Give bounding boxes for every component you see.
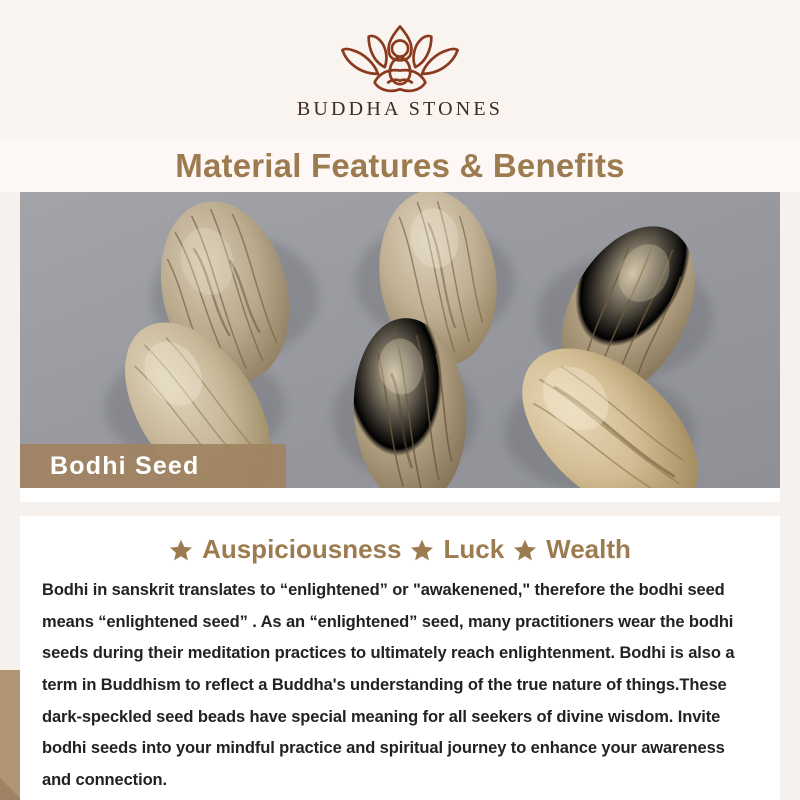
- content-panel: Auspiciousness Luck Wealth Bodhi in sans…: [20, 488, 780, 800]
- product-photo: Bodhi Seed: [20, 192, 780, 488]
- star-icon: [513, 538, 537, 562]
- star-icon: [169, 538, 193, 562]
- photo-caption-bar: Bodhi Seed: [20, 444, 286, 488]
- content-top-strip: [20, 502, 780, 516]
- star-icon: [410, 538, 434, 562]
- lotus-meditation-figure-icon: [315, 18, 485, 96]
- benefit-label-1: Auspiciousness: [202, 534, 401, 565]
- description-paragraph: Bodhi in sanskrit translates to “enlight…: [20, 569, 780, 797]
- brand-name: BUDDHA STONES: [297, 98, 503, 121]
- benefit-label-3: Wealth: [546, 534, 631, 565]
- page-title: Material Features & Benefits: [175, 147, 624, 185]
- brand-header: BUDDHA STONES: [0, 0, 800, 140]
- infographic-page: BUDDHA STONES Material Features & Benefi…: [0, 0, 800, 800]
- photo-caption-label: Bodhi Seed: [50, 452, 200, 481]
- benefit-label-2: Luck: [443, 534, 504, 565]
- frame-corner-bottom-left-notch: [0, 778, 22, 800]
- benefits-headline: Auspiciousness Luck Wealth: [20, 516, 780, 569]
- section-title-band: Material Features & Benefits: [0, 140, 800, 192]
